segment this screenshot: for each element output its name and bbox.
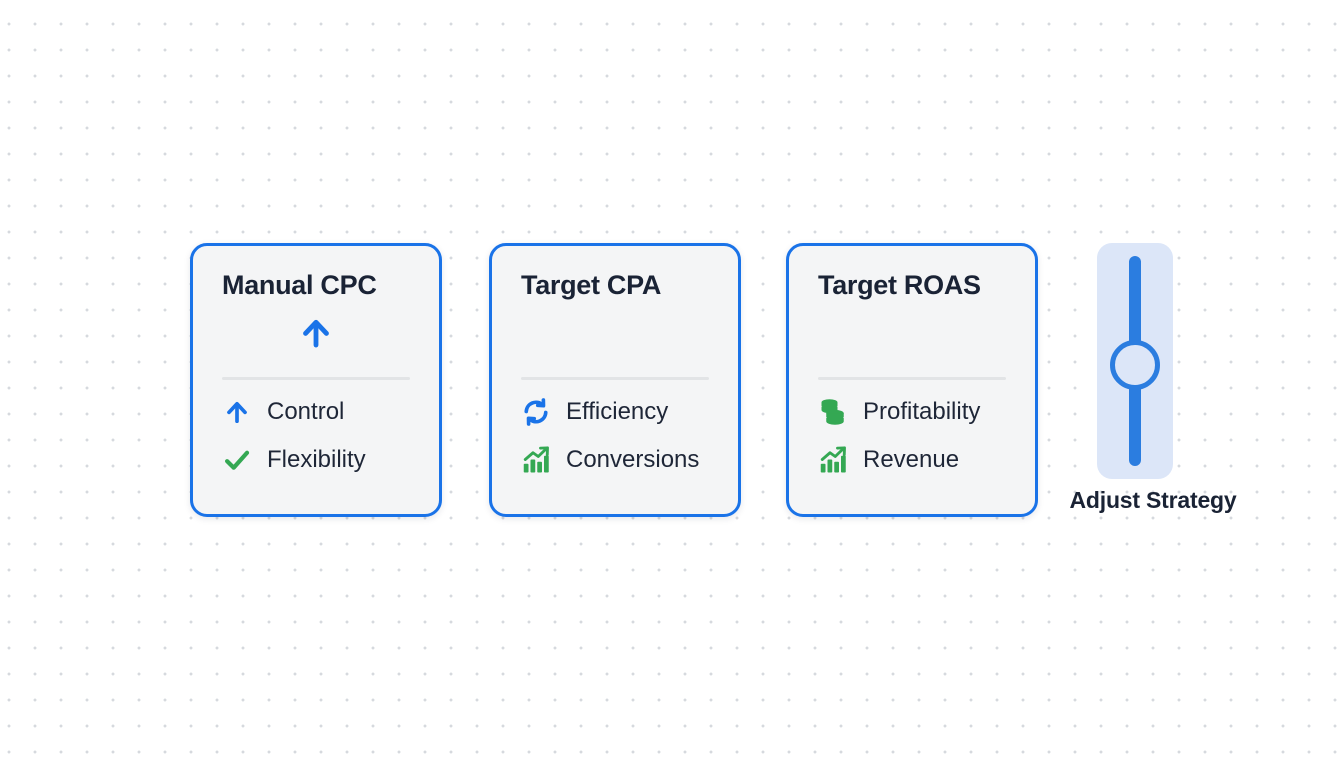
card-hero-icon-slot [222, 304, 410, 366]
feature-label: Efficiency [566, 398, 668, 426]
feature-label: Revenue [863, 446, 959, 474]
strategy-card-manual-cpc[interactable]: Manual CPC Control [190, 243, 442, 517]
canvas: Manual CPC Control [0, 0, 1344, 768]
feature-list: Profitability Revenue [818, 396, 1006, 476]
strategy-card-target-cpa[interactable]: Target CPA Efficiency [489, 243, 741, 517]
card-title: Target ROAS [818, 268, 1006, 302]
feature-label: Flexibility [267, 446, 366, 474]
card-divider [222, 377, 410, 380]
vertical-slider-icon[interactable] [1097, 243, 1173, 479]
feature-row: Flexibility [222, 444, 410, 476]
bar-chart-up-icon [818, 445, 848, 475]
card-title: Target CPA [521, 268, 709, 302]
feature-row: Profitability [818, 396, 1006, 428]
strategy-card-target-roas[interactable]: Target ROAS [786, 243, 1038, 517]
bar-chart-up-icon [521, 445, 551, 475]
feature-row: Control [222, 396, 410, 428]
card-title: Manual CPC [222, 268, 410, 302]
feature-list: Control Flexibility [222, 396, 410, 476]
slider-handle[interactable] [1110, 340, 1160, 390]
feature-row: Conversions [521, 444, 709, 476]
slider-caption: Adjust Strategy [1053, 487, 1253, 514]
card-divider [521, 377, 709, 380]
feature-label: Conversions [566, 446, 699, 474]
feature-list: Efficiency Conversions [521, 396, 709, 476]
feature-label: Profitability [863, 398, 980, 426]
coins-stack-icon [818, 397, 848, 427]
arrow-up-icon [222, 397, 252, 427]
arrow-up-icon [299, 313, 333, 358]
feature-row: Efficiency [521, 396, 709, 428]
feature-label: Control [267, 398, 344, 426]
adjust-strategy-slider-group[interactable]: Adjust Strategy [1097, 243, 1173, 514]
card-divider [818, 377, 1006, 380]
refresh-icon [521, 397, 551, 427]
check-icon [222, 445, 252, 475]
feature-row: Revenue [818, 444, 1006, 476]
